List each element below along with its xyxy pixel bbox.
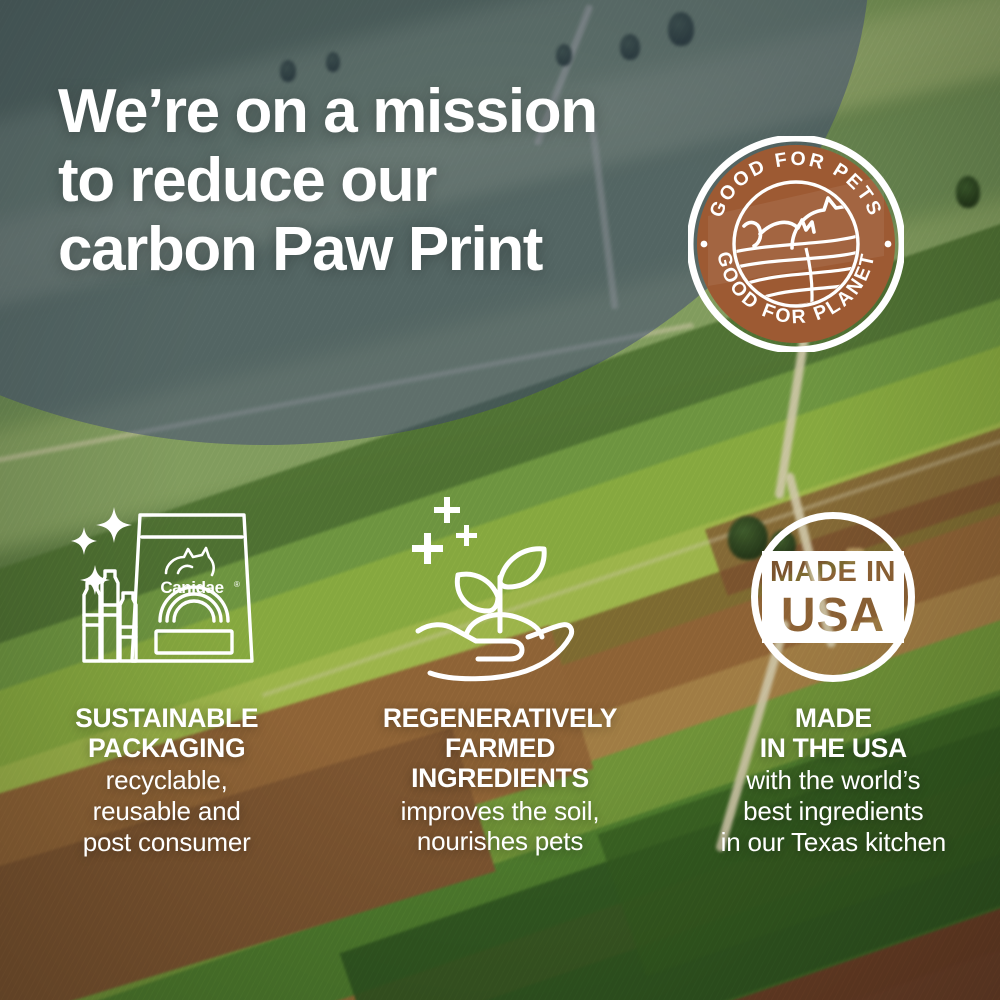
feature-description: recyclable, reusable and post consumer — [83, 765, 251, 857]
page-title: We’re on a mission to reduce our carbon … — [58, 78, 597, 284]
feature-column-sustainable-packaging: Canidae ® SUSTAINABLE PACKAGING recyclab… — [0, 470, 333, 857]
feature-column-made-in-usa: MADE IN USA MADE IN THE USA with the wor… — [667, 470, 1000, 857]
feature-title: SUSTAINABLE PACKAGING — [75, 703, 258, 763]
sparkle-icon — [96, 507, 132, 543]
feature-columns: Canidae ® SUSTAINABLE PACKAGING recyclab… — [0, 470, 1000, 857]
feature-title: MADE IN THE USA — [760, 703, 907, 763]
promo-graphic: We’re on a mission to reduce our carbon … — [0, 0, 1000, 1000]
sprout-leaf-right — [500, 549, 544, 587]
sustainable-packaging-illustration: Canidae ® — [62, 470, 272, 685]
sparkle-icon — [71, 527, 97, 555]
feature-description: with the world’s best ingredients in our… — [721, 765, 946, 857]
bag-brand-trademark: ® — [234, 580, 240, 589]
feature-description: improves the soil, nourishes pets — [401, 796, 600, 857]
sprout-leaf-left — [457, 574, 498, 611]
sparkle-icon — [412, 497, 477, 564]
feature-column-regenerative-ingredients: REGENERATIVELY FARMED INGREDIENTS improv… — [333, 470, 666, 857]
good-for-pets-planet-seal: GOOD FOR PETS GOOD FOR PLANET — [688, 136, 904, 352]
recycled-bottles — [84, 571, 136, 661]
made-in-usa-badge: MADE IN USA — [748, 470, 918, 685]
canidae-dog-mark — [166, 548, 214, 575]
usa-badge-shape — [748, 509, 918, 685]
feature-title: REGENERATIVELY FARMED INGREDIENTS — [383, 703, 617, 794]
bag-brand-label: Canidae — [160, 578, 223, 597]
seal-dot-right — [885, 241, 892, 248]
hand-holding-sprout-illustration — [400, 470, 600, 685]
seal-dot-left — [701, 241, 708, 248]
